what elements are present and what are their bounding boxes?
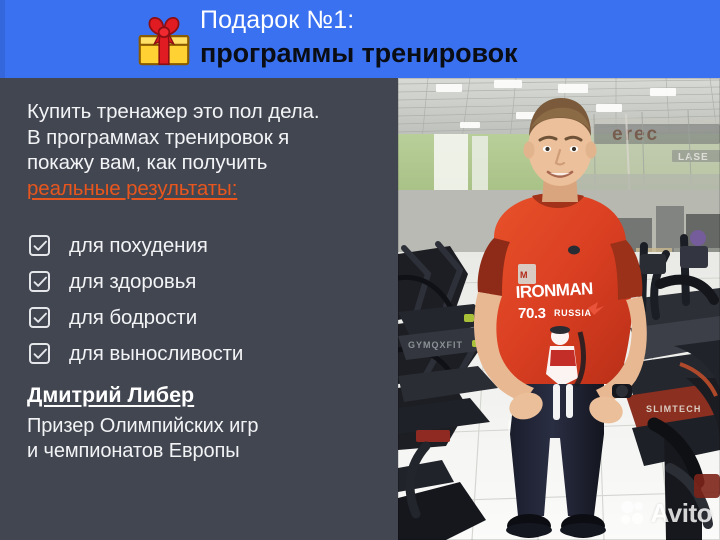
checkbox-checked-icon bbox=[29, 271, 50, 292]
list-item: для бодрости bbox=[29, 299, 379, 335]
gift-icon bbox=[133, 9, 195, 71]
svg-text:RUSSIA: RUSSIA bbox=[554, 308, 592, 318]
author-credential-line-2: и чемпионатов Европы bbox=[27, 439, 387, 464]
svg-text:70.3: 70.3 bbox=[518, 305, 546, 322]
svg-text:GYMQXFIT: GYMQXFIT bbox=[408, 340, 463, 350]
text-panel: Купить тренажер это пол дела. В программ… bbox=[0, 78, 398, 540]
signature-block: Дмитрий Либер Призер Олимпийских игр и ч… bbox=[27, 381, 387, 464]
svg-text:SLIMTECH: SLIMTECH bbox=[646, 404, 702, 414]
author-name: Дмитрий Либер bbox=[27, 381, 387, 409]
svg-text:IRONMAN: IRONMAN bbox=[515, 279, 593, 302]
svg-text:LASE: LASE bbox=[678, 152, 709, 163]
intro-line-3: покажу вам, как получить bbox=[27, 150, 387, 176]
intro-highlight-line: реальные результаты: bbox=[27, 176, 387, 202]
checklist-item-label: для бодрости bbox=[69, 305, 197, 330]
trainer-photo: erec LASE bbox=[398, 78, 720, 540]
checkbox-checked-icon bbox=[29, 235, 50, 256]
intro-line-1: Купить тренажер это пол дела. bbox=[27, 99, 387, 125]
svg-text:M: M bbox=[520, 270, 528, 280]
header-banner: Подарок №1: программы тренировок bbox=[0, 0, 720, 78]
checklist-item-label: для похудения bbox=[69, 233, 208, 258]
list-item: для здоровья bbox=[29, 263, 379, 299]
intro-paragraph: Купить тренажер это пол дела. В программ… bbox=[27, 99, 387, 201]
header-left-edge-strip bbox=[0, 0, 5, 78]
checklist-item-label: для здоровья bbox=[69, 269, 196, 294]
checkbox-checked-icon bbox=[29, 343, 50, 364]
promo-card: Подарок №1: программы тренировок Купить … bbox=[0, 0, 720, 540]
checkbox-checked-icon bbox=[29, 307, 50, 328]
author-credential-line-1: Призер Олимпийских игр bbox=[27, 414, 387, 439]
header-title-block: Подарок №1: программы тренировок bbox=[200, 5, 710, 70]
list-item: для похудения bbox=[29, 227, 379, 263]
list-item: для выносливости bbox=[29, 335, 379, 371]
benefits-checklist: для похудения для здоровья для бодрости … bbox=[29, 227, 379, 371]
checklist-item-label: для выносливости bbox=[69, 341, 243, 366]
header-title-line-1: Подарок №1: bbox=[200, 5, 710, 36]
gym-scene-illustration: erec LASE bbox=[398, 78, 720, 540]
intro-line-2: В программах тренировок я bbox=[27, 125, 387, 151]
header-title-line-2: программы тренировок bbox=[200, 36, 710, 70]
svg-text:erec: erec bbox=[612, 124, 659, 145]
